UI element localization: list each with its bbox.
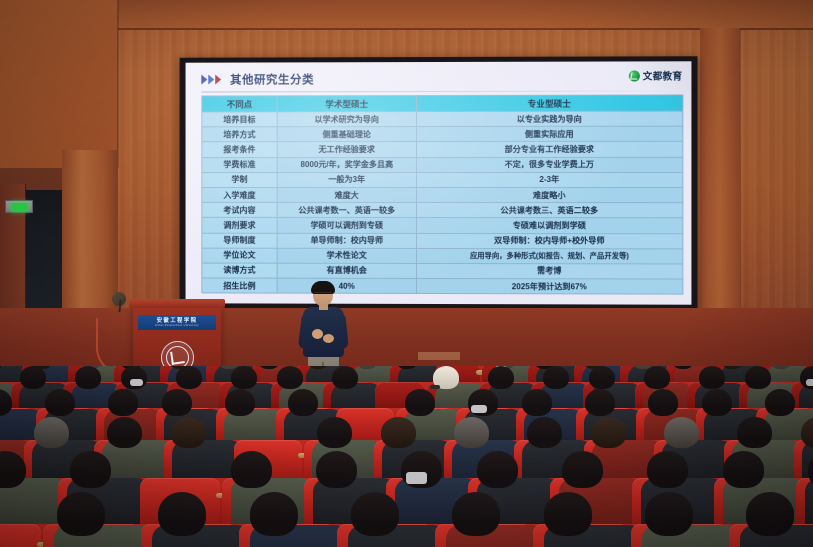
audience-member-head [648, 389, 678, 416]
audience-member-head [737, 417, 772, 448]
audience-member-head [20, 366, 46, 389]
audience-member-shoulders [805, 478, 813, 524]
projection-screen-frame: 文都教育 其他研究生分类 [180, 56, 698, 311]
comparison-table: 不同点 学术型硕士 专业型硕士 培养目标以学术研究为导向以专业实践为导向培养方式… [201, 94, 683, 294]
chevron-right-icon-1 [201, 75, 207, 85]
table-row: 调剂要求学硕可以调剂到专硕专硕难以调剂到学硕 [202, 218, 683, 234]
cell-professional: 以专业实践为导向 [417, 111, 683, 127]
audience-member-head [277, 366, 303, 389]
audience-member-head [585, 389, 615, 416]
table-row: 读博方式有直博机会需考博 [202, 263, 683, 279]
audience-member-head [57, 492, 105, 536]
column-header-difference: 不同点 [202, 96, 277, 112]
audience-member-head [351, 492, 399, 536]
cell-academic: 无工作经验要求 [277, 142, 416, 157]
wall-upper-left-panel [0, 0, 118, 168]
table-row: 导师制度单导师制：校内导师双导师制：校内导师+校外导师 [202, 233, 683, 249]
exit-sign-icon [11, 203, 28, 211]
projection-screen: 文都教育 其他研究生分类 [186, 61, 692, 304]
cell-professional: 专硕难以调剂到学硕 [417, 218, 683, 233]
audience-member-head [176, 366, 202, 389]
speaker-right-hand [323, 334, 334, 343]
table-row: 培养目标以学术研究为导向以专业实践为导向 [202, 111, 683, 127]
audience-member-head [34, 417, 69, 448]
audience-member-head [225, 389, 255, 416]
cell-academic: 以学术研究为导向 [277, 112, 416, 127]
audience-member-head [488, 366, 514, 389]
audience-member-head [645, 492, 693, 536]
audience-member-head [288, 389, 318, 416]
column-header-professional: 专业型硕士 [417, 95, 683, 112]
table-row: 学位论文学术性论文应用导向，多种形式(如报告、规划、产品开发等) [202, 248, 683, 264]
presentation-slide: 文都教育 其他研究生分类 [186, 61, 692, 304]
cell-academic: 单导师制：校内导师 [277, 233, 416, 248]
audience-member-head [765, 389, 795, 416]
cell-academic: 一般为3年 [277, 172, 416, 187]
cell-professional: 需考博 [417, 263, 683, 279]
audience-member-head [452, 492, 500, 536]
audience-member-head [454, 417, 489, 448]
audience-member-head [723, 451, 764, 488]
slide-title: 其他研究生分类 [230, 71, 314, 87]
face-mask [406, 472, 427, 483]
cell-academic: 8000元/年，奖学金多且高 [277, 157, 416, 172]
audience-member-head [522, 389, 552, 416]
table-header-row: 不同点 学术型硕士 专业型硕士 [202, 95, 683, 112]
wall-seam-left [118, 0, 119, 168]
cell-academic: 难度大 [277, 187, 416, 202]
cell-professional: 双导师制：校内导师+校外导师 [417, 233, 683, 249]
row-label: 招生比例 [202, 278, 277, 293]
audience-member-head [381, 417, 416, 448]
column-header-academic: 学术型硕士 [277, 96, 416, 112]
row-label: 读博方式 [202, 263, 277, 278]
audience-member-head [162, 389, 192, 416]
chevron-group-icon [201, 75, 221, 85]
table-row: 入学难度难度大难度略小 [202, 187, 683, 202]
cell-professional: 侧重实际应用 [417, 126, 683, 142]
brand-name: 文都教育 [643, 68, 683, 82]
audience-member-head [158, 492, 206, 536]
podium-top [129, 299, 225, 308]
audience-member-head [702, 389, 732, 416]
chevron-right-icon-3 [215, 75, 221, 85]
speaker-left-hand [312, 329, 323, 339]
audience-member-head [75, 366, 101, 389]
podium-banner-en: Anhui Polytechnic University [155, 324, 199, 327]
audience-member-cap [433, 366, 459, 389]
audience-member-head [562, 451, 603, 488]
podium-banner: 安徽工程学院 Anhui Polytechnic University [138, 315, 216, 330]
cell-professional: 难度略小 [417, 187, 683, 202]
audience-member-head [171, 417, 206, 448]
audience-seating [0, 366, 813, 547]
row-label: 考试内容 [202, 203, 277, 218]
cell-professional: 2025年预计达到67% [417, 279, 683, 295]
row-label: 调剂要求 [202, 218, 277, 233]
table-row: 学费标准8000元/年，奖学金多且高不定，很多专业学费上万 [202, 157, 683, 172]
audience-member-head [699, 366, 725, 389]
slide-header: 其他研究生分类 [201, 68, 683, 89]
stage-vent [418, 352, 460, 360]
row-label: 报考条件 [202, 142, 277, 157]
row-label: 导师制度 [202, 233, 277, 248]
audience-member-head [231, 451, 272, 488]
audience-member-head [644, 366, 670, 389]
chevron-right-icon-2 [208, 75, 214, 85]
cell-professional: 部分专业有工作经验要求 [417, 142, 683, 157]
cell-professional: 应用导向，多种形式(如报告、规划、产品开发等) [417, 248, 683, 264]
row-label: 培养目标 [202, 112, 277, 127]
lecture-hall-scene: 文都教育 其他研究生分类 [0, 0, 813, 547]
row-label: 学制 [202, 172, 277, 187]
row-label: 培养方式 [202, 127, 277, 142]
cell-academic: 公共课考数一、英语一较多 [277, 203, 416, 218]
wall-top-band [0, 0, 813, 30]
audience-member-head [647, 451, 688, 488]
wendu-logo-icon [629, 70, 640, 81]
audience-member-head [664, 417, 699, 448]
audience-member-head [589, 366, 615, 389]
audience-member-head [591, 417, 626, 448]
table-body: 培养目标以学术研究为导向以专业实践为导向培养方式侧重基础理论侧重实际应用报考条件… [202, 111, 683, 294]
face-mask [471, 405, 487, 413]
audience-member-head [45, 389, 75, 416]
table-row: 考试内容公共课考数一、英语一较多公共课考数三、英语二较多 [202, 203, 683, 218]
audience-member-head [70, 451, 111, 488]
audience-member-head [746, 492, 794, 536]
cell-academic: 有直博机会 [277, 263, 416, 278]
speaker-torso [303, 307, 344, 357]
glasses-icon [314, 292, 332, 296]
table-row: 学制一般为3年2-3年 [202, 172, 683, 187]
audience-member-head [107, 417, 142, 448]
exit-sign [5, 200, 33, 213]
cell-professional: 公共课考数三、英语二较多 [417, 203, 683, 218]
row-label: 学位论文 [202, 248, 277, 263]
row-label: 学费标准 [202, 157, 277, 172]
audience-member-head [250, 492, 298, 536]
cell-academic: 学硕可以调剂到专硕 [277, 218, 416, 233]
audience-member-head [527, 417, 562, 448]
audience-member-head [477, 451, 518, 488]
audience-member-head [544, 492, 592, 536]
audience-member-head [543, 366, 569, 389]
cell-professional: 2-3年 [417, 172, 683, 187]
table-row: 招生比例40%2025年预计达到67% [202, 278, 683, 294]
title-underline [201, 90, 683, 92]
audience-member-head [316, 451, 357, 488]
audience-member-head [405, 389, 435, 416]
table-row: 培养方式侧重基础理论侧重实际应用 [202, 126, 683, 142]
face-mask [130, 379, 144, 386]
audience-member-head [317, 417, 352, 448]
cell-academic: 学术性论文 [277, 248, 416, 263]
cell-academic: 侧重基础理论 [277, 127, 416, 142]
brand-logo: 文都教育 [629, 68, 683, 82]
audience-member-head [108, 389, 138, 416]
row-label: 入学难度 [202, 187, 277, 202]
audience-member-head [231, 366, 257, 389]
face-mask [806, 379, 813, 386]
audience-member-head [332, 366, 358, 389]
cell-professional: 不定，很多专业学费上万 [417, 157, 683, 172]
seat [0, 524, 41, 547]
table-row: 报考条件无工作经验要求部分专业有工作经验要求 [202, 142, 683, 158]
audience-member-head [745, 366, 771, 389]
